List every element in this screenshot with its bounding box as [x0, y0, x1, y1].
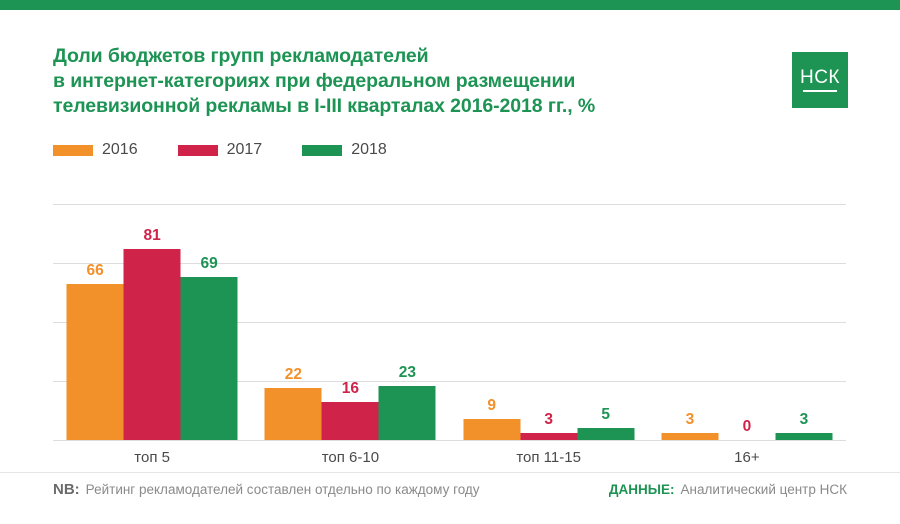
bar-rect[interactable] [124, 249, 181, 440]
footer: NB: Рейтинг рекламодателей составлен отд… [53, 481, 847, 498]
legend-label-2018: 2018 [351, 141, 387, 159]
footer-source: ДАННЫЕ: Аналитический центр НСК [609, 482, 847, 497]
bar-rect[interactable] [775, 433, 832, 440]
bar-2018-топ-6-10[interactable]: 23 [379, 204, 436, 440]
legend-swatch-2017 [178, 145, 218, 156]
logo-underline [803, 90, 837, 92]
legend-item-2017[interactable]: 2017 [178, 141, 263, 159]
bar-value-label: 9 [487, 397, 496, 414]
nb-label: NB: [53, 481, 80, 498]
bar-rect[interactable] [379, 386, 436, 440]
bars: 668169 [67, 204, 238, 440]
category-label-2: топ 6-10 [251, 449, 449, 466]
title-line-2: в интернет-категориях при федеральном ра… [53, 69, 743, 94]
bar-2017-топ-6-10[interactable]: 16 [322, 204, 379, 440]
bar-2018-16+[interactable]: 3 [775, 204, 832, 440]
bar-rect[interactable] [463, 419, 520, 440]
bar-2016-топ-6-10[interactable]: 22 [265, 204, 322, 440]
bar-rect[interactable] [577, 428, 634, 440]
bar-2018-топ-5[interactable]: 69 [181, 204, 238, 440]
bar-value-label: 3 [800, 411, 809, 428]
infographic-root: Доли бюджетов групп рекламодателей в инт… [0, 0, 900, 524]
bar-rect[interactable] [181, 277, 238, 440]
bars: 221623 [265, 204, 436, 440]
bars: 303 [661, 204, 832, 440]
bar-rect[interactable] [322, 402, 379, 440]
bar-rect[interactable] [265, 388, 322, 440]
bar-2017-топ-5[interactable]: 81 [124, 204, 181, 440]
bar-2018-топ-11-15[interactable]: 5 [577, 204, 634, 440]
logo-text: НСК [800, 68, 840, 88]
legend-swatch-2016 [53, 145, 93, 156]
bar-rect[interactable] [67, 284, 124, 440]
title-line-1: Доли бюджетов групп рекламодателей [53, 44, 743, 69]
source-label: ДАННЫЕ: [609, 482, 675, 497]
category-label-1: топ 5 [53, 449, 251, 466]
source-text: Аналитический центр НСК [681, 482, 848, 497]
legend-label-2017: 2017 [227, 141, 263, 159]
bar-group-1: 668169 [53, 204, 251, 440]
legend-item-2018[interactable]: 2018 [302, 141, 387, 159]
bar-value-label: 5 [601, 406, 610, 423]
legend-label-2016: 2016 [102, 141, 138, 159]
bar-value-label: 0 [743, 418, 752, 435]
bar-value-label: 23 [399, 364, 416, 381]
top-accent-band [0, 0, 900, 10]
bar-2016-топ-5[interactable]: 66 [67, 204, 124, 440]
chart-legend: 2016 2017 2018 [53, 141, 427, 159]
bar-groups: 668169221623935303 [53, 204, 846, 440]
legend-swatch-2018 [302, 145, 342, 156]
bar-rect[interactable] [661, 433, 718, 440]
nb-text: Рейтинг рекламодателей составлен отдельн… [86, 482, 480, 497]
footer-note: NB: Рейтинг рекламодателей составлен отд… [53, 481, 480, 498]
bar-group-3: 935 [450, 204, 648, 440]
nsk-logo: НСК [792, 52, 848, 108]
bar-2017-16+[interactable]: 0 [718, 204, 775, 440]
axis-baseline [53, 440, 846, 441]
bar-value-label: 22 [285, 366, 302, 383]
bar-2016-16+[interactable]: 3 [661, 204, 718, 440]
category-label-3: топ 11-15 [450, 449, 648, 466]
category-label-4: 16+ [648, 449, 846, 466]
bar-value-label: 3 [686, 411, 695, 428]
category-axis-labels: топ 5топ 6-10топ 11-1516+ [53, 449, 846, 466]
bar-group-2: 221623 [251, 204, 449, 440]
bars: 935 [463, 204, 634, 440]
bar-rect[interactable] [520, 433, 577, 440]
bar-value-label: 3 [544, 411, 553, 428]
bar-value-label: 16 [342, 380, 359, 397]
chart-plot-area: 668169221623935303 [53, 204, 846, 441]
legend-item-2016[interactable]: 2016 [53, 141, 138, 159]
bar-value-label: 66 [87, 262, 104, 279]
page-title: Доли бюджетов групп рекламодателей в инт… [53, 44, 743, 119]
logo-inner: НСК [800, 68, 840, 92]
bar-group-4: 303 [648, 204, 846, 440]
bar-2017-топ-11-15[interactable]: 3 [520, 204, 577, 440]
bar-2016-топ-11-15[interactable]: 9 [463, 204, 520, 440]
title-line-3: телевизионной рекламы в I-III кварталах … [53, 94, 743, 119]
bar-value-label: 69 [201, 255, 218, 272]
bar-value-label: 81 [144, 227, 161, 244]
footer-divider [0, 472, 900, 473]
